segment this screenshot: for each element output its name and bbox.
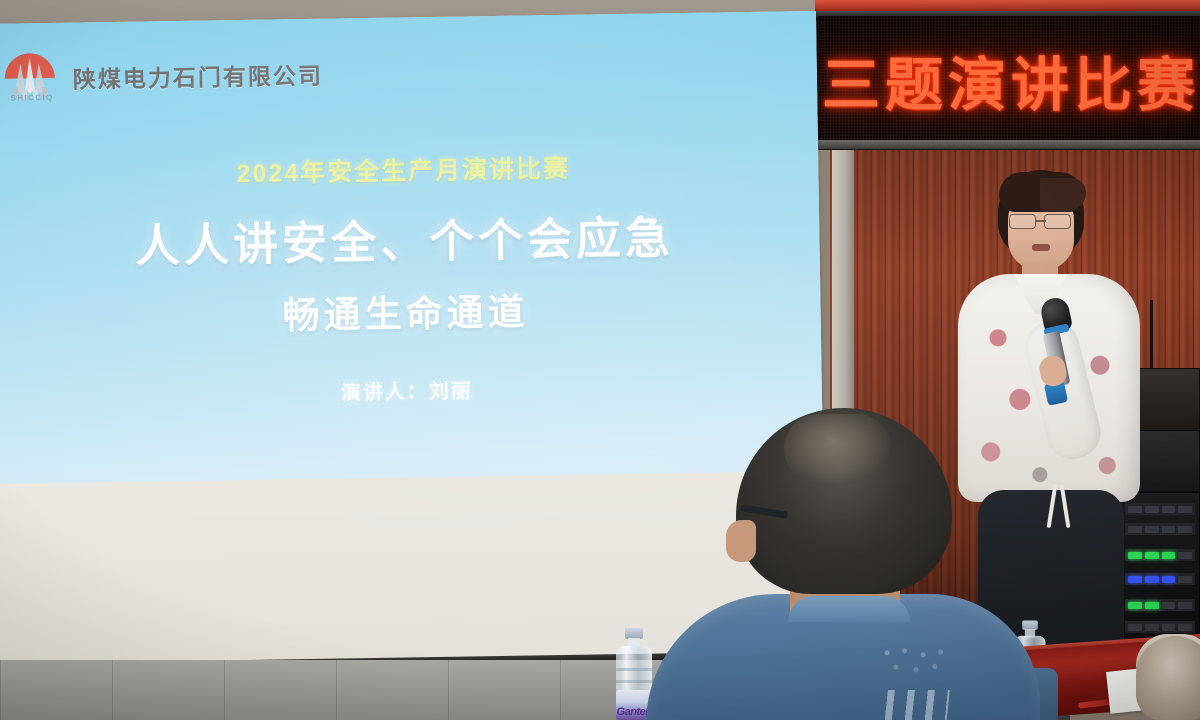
rack-led <box>1178 552 1192 559</box>
glasses-lens-right <box>1044 214 1071 229</box>
presenter-fringe-side <box>1040 178 1086 212</box>
presenter-mouth <box>1032 244 1050 251</box>
rack-led <box>1178 624 1192 631</box>
audience-man-crown <box>784 414 892 484</box>
led-banner-text: 三题演讲比赛 <box>822 38 1200 122</box>
audience-man-ear <box>726 520 756 562</box>
presenter-drawstring <box>1044 484 1074 530</box>
presenter-glasses <box>1008 214 1074 230</box>
audience-man-figure <box>640 408 1040 720</box>
rack-led <box>1178 576 1192 583</box>
audience-man-collar <box>788 596 910 622</box>
led-banner-panel: 三题演讲比赛 <box>818 16 1200 142</box>
glasses-bridge <box>1036 220 1046 222</box>
shirt-stripe-graphic <box>884 690 950 720</box>
judge-head <box>1136 636 1200 720</box>
glasses-lens-left <box>1009 214 1036 229</box>
shirt-perforation-pattern <box>880 646 952 680</box>
photo-scene: 三题演讲比赛 SHICCIQ <box>0 0 1200 720</box>
rack-led <box>1178 506 1192 513</box>
rack-led <box>1178 602 1192 609</box>
rack-led <box>1178 526 1192 533</box>
led-banner-bottom-bar <box>818 140 1200 149</box>
